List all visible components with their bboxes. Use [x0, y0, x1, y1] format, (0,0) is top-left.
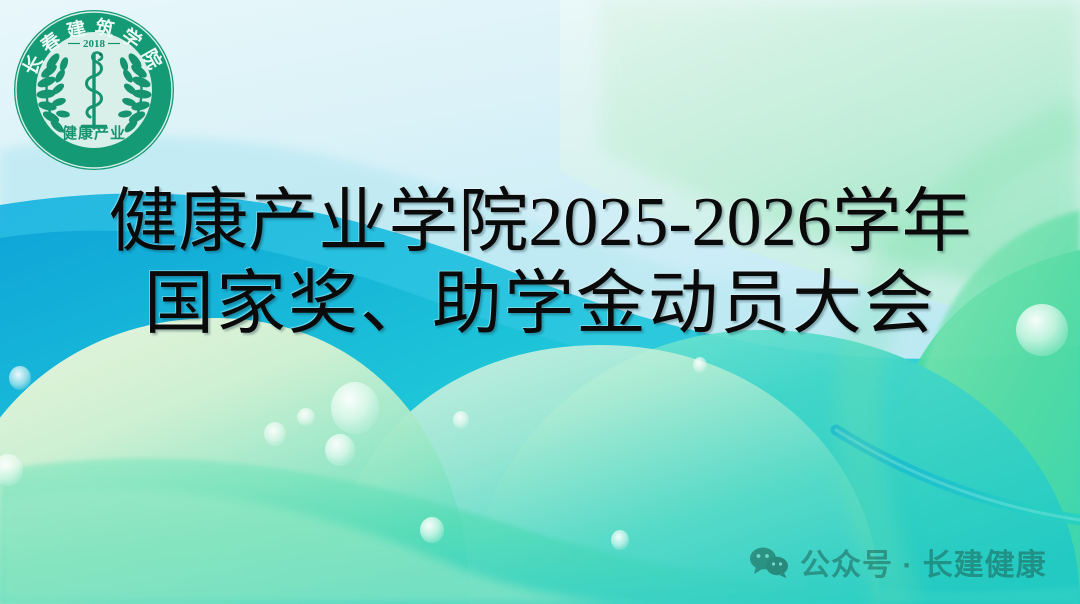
- bubble: [297, 408, 315, 426]
- logo-year: 2018: [83, 38, 106, 50]
- university-logo: 长春建筑学院 CHANGCHUN UNIVERSITY OF ARCHITECT…: [8, 4, 180, 176]
- wechat-icon: [748, 546, 790, 578]
- bubble: [611, 530, 629, 550]
- bubble: [331, 382, 379, 434]
- university-logo-emblem: 长春建筑学院 CHANGCHUN UNIVERSITY OF ARCHITECT…: [8, 4, 180, 176]
- watermark-label: 公众号 · 长建健康: [800, 540, 1047, 584]
- bubble: [9, 366, 31, 390]
- bubble: [420, 517, 444, 543]
- poster-canvas: 长春建筑学院 CHANGCHUN UNIVERSITY OF ARCHITECT…: [0, 0, 1080, 604]
- bubble: [264, 422, 286, 446]
- logo-center-caption: 健康产业: [62, 124, 126, 142]
- bubble: [325, 434, 355, 466]
- bubble: [453, 411, 469, 429]
- bubble: [693, 357, 707, 373]
- wechat-watermark: 公众号 · 长建健康: [748, 540, 1047, 584]
- bubble: [1016, 304, 1068, 356]
